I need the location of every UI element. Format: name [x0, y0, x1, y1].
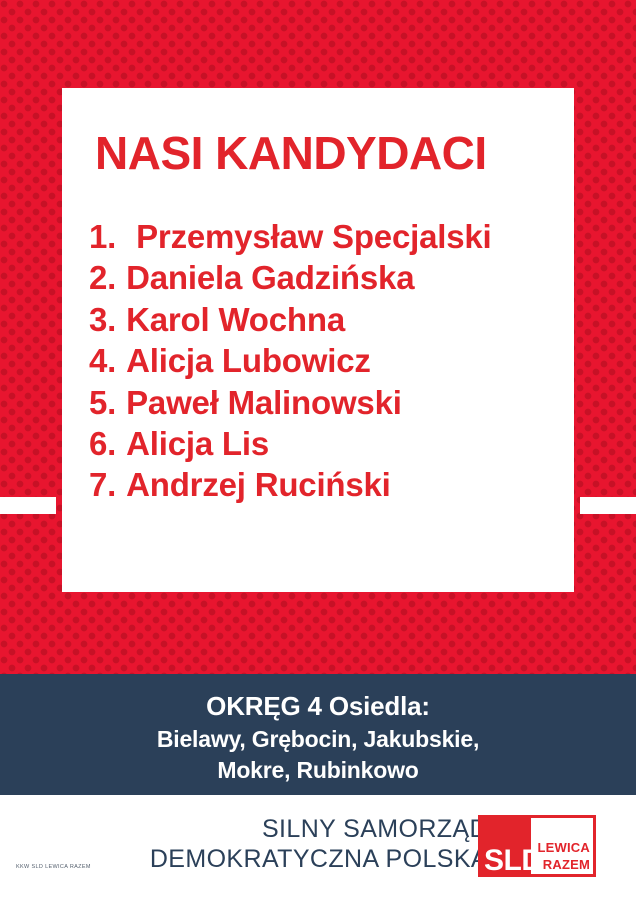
campaign-slogan: SILNY SAMORZĄD DEMOKRATYCZNA POLSKA [150, 814, 488, 874]
page-title: NASI KANDYDACI [95, 130, 487, 176]
list-item: 3. Karol Wochna [89, 299, 564, 340]
slogan-line-1: SILNY SAMORZĄD [150, 814, 488, 844]
candidate-number: 7. [89, 464, 116, 505]
candidate-name: Daniela Gadzińska [126, 257, 414, 298]
list-item: 5. Paweł Malinowski [89, 382, 564, 423]
list-item: 7. Andrzej Ruciński [89, 464, 564, 505]
list-item: 1. Przemysław Specjalski [89, 216, 564, 257]
candidate-number: 1. [89, 216, 116, 257]
candidate-name: Alicja Lubowicz [126, 340, 371, 381]
poster-footer: SILNY SAMORZĄD DEMOKRATYCZNA POLSKA KKW … [0, 795, 636, 900]
candidate-number: 3. [89, 299, 116, 340]
candidate-name: Paweł Malinowski [126, 382, 402, 423]
district-neighbourhoods-line-2: Mokre, Rubinkowo [0, 757, 636, 784]
candidate-list: 1. Przemysław Specjalski 2. Daniela Gadz… [89, 216, 564, 506]
razem-label: RAZEM [531, 858, 590, 871]
lewica-razem-box: LEWICA RAZEM [531, 818, 593, 874]
candidate-number: 5. [89, 382, 116, 423]
slogan-line-2: DEMOKRATYCZNA POLSKA [150, 844, 488, 874]
candidates-card: NASI KANDYDACI 1. Przemysław Specjalski … [62, 88, 574, 592]
list-item: 6. Alicja Lis [89, 423, 564, 464]
list-item: 4. Alicja Lubowicz [89, 340, 564, 381]
candidate-number: 2. [89, 257, 116, 298]
list-item: 2. Daniela Gadzińska [89, 257, 564, 298]
candidate-number: 4. [89, 340, 116, 381]
candidate-name: Andrzej Ruciński [126, 464, 391, 505]
candidate-name: Karol Wochna [126, 299, 345, 340]
campaign-poster: NASI KANDYDACI 1. Przemysław Specjalski … [0, 0, 636, 900]
district-band: OKRĘG 4 Osiedla: Bielawy, Grębocin, Jaku… [0, 674, 636, 795]
candidate-name: Przemysław Specjalski [136, 216, 491, 257]
left-edge-notch [0, 497, 56, 514]
sld-lewica-razem-logo: SLD LEWICA RAZEM [478, 815, 596, 877]
district-neighbourhoods-line-1: Bielawy, Grębocin, Jakubskie, [0, 726, 636, 753]
district-heading: OKRĘG 4 Osiedla: [0, 691, 636, 722]
committee-disclaimer: KKW SLD LEWICA RAZEM [16, 864, 91, 870]
candidate-name: Alicja Lis [126, 423, 269, 464]
candidate-number: 6. [89, 423, 116, 464]
right-edge-notch [580, 497, 636, 514]
lewica-label: LEWICA [531, 841, 590, 854]
